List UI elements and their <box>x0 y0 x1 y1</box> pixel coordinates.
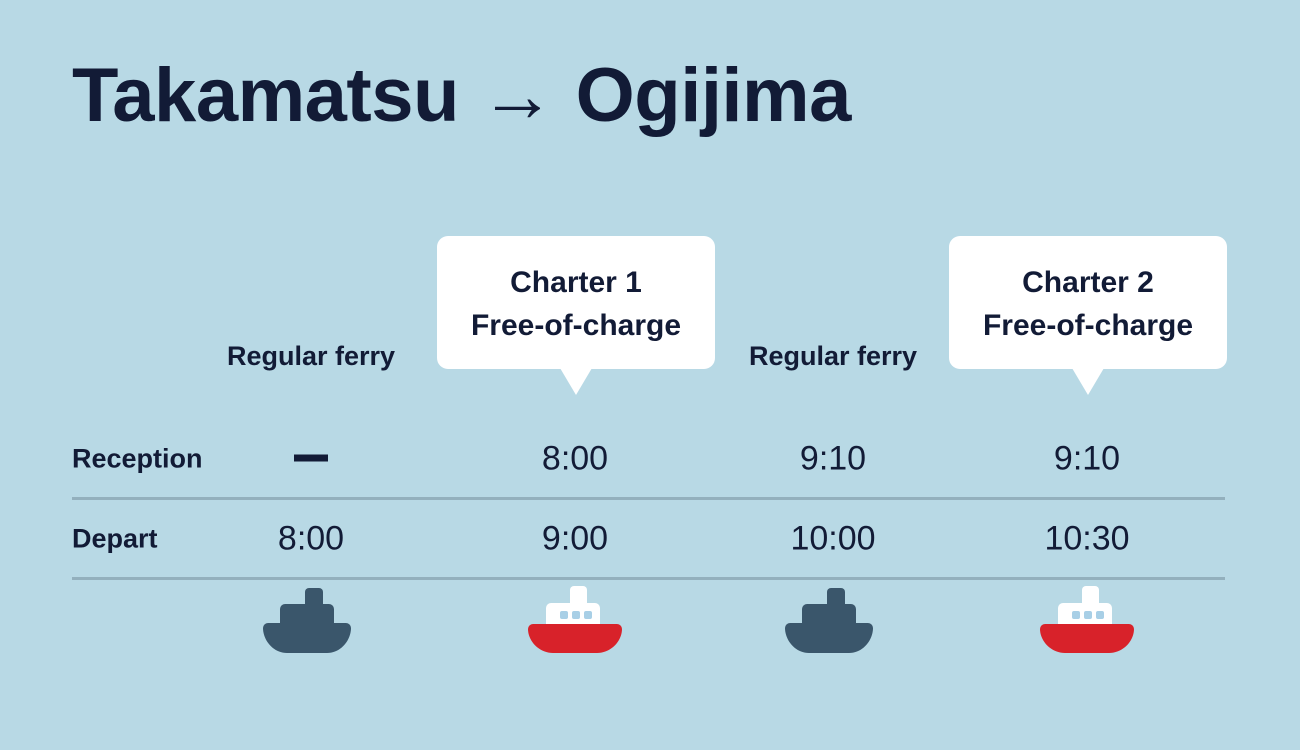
row-label-reception: Reception <box>72 443 203 474</box>
cell-depart-col2: 9:00 <box>542 519 608 558</box>
callout-tail-icon <box>1072 368 1104 395</box>
schedule-table: Reception 8:00 9:10 9:10 Depart 8:00 9:0… <box>72 420 1225 580</box>
page-title: Takamatsu → Ogijima <box>72 56 851 136</box>
column-label-regular-ferry-2: Regular ferry <box>749 341 917 372</box>
cell-depart-col1: 8:00 <box>278 519 344 558</box>
cell-reception-col1 <box>294 439 328 478</box>
callout-charter-2-line2: Free-of-charge <box>959 305 1217 348</box>
callout-tail-icon <box>560 368 592 395</box>
column-label-regular-ferry-1: Regular ferry <box>227 341 395 372</box>
callout-charter-2-line1: Charter 2 <box>959 262 1217 305</box>
table-row: Reception 8:00 9:10 9:10 <box>72 420 1225 500</box>
callout-charter-1-line1: Charter 1 <box>447 262 705 305</box>
boat-icon-row <box>0 582 1300 662</box>
table-row: Depart 8:00 9:00 10:00 10:30 <box>72 500 1225 580</box>
cell-depart-col4: 10:30 <box>1044 519 1129 558</box>
ferry-icon <box>263 582 359 658</box>
charter-boat-icon <box>1039 582 1135 658</box>
ferry-icon <box>785 582 881 658</box>
cell-reception-col3: 9:10 <box>800 439 866 478</box>
cell-reception-col2: 8:00 <box>542 439 608 478</box>
cell-reception-col4: 9:10 <box>1054 439 1120 478</box>
callout-charter-1: Charter 1 Free-of-charge <box>437 236 715 369</box>
em-dash-icon <box>294 455 328 462</box>
charter-boat-icon <box>527 582 623 658</box>
callout-charter-2: Charter 2 Free-of-charge <box>949 236 1227 369</box>
row-label-depart: Depart <box>72 523 158 554</box>
cell-depart-col3: 10:00 <box>790 519 875 558</box>
ferry-schedule-poster: Takamatsu → Ogijima Regular ferry Regula… <box>0 0 1300 750</box>
callout-charter-1-line2: Free-of-charge <box>447 305 705 348</box>
